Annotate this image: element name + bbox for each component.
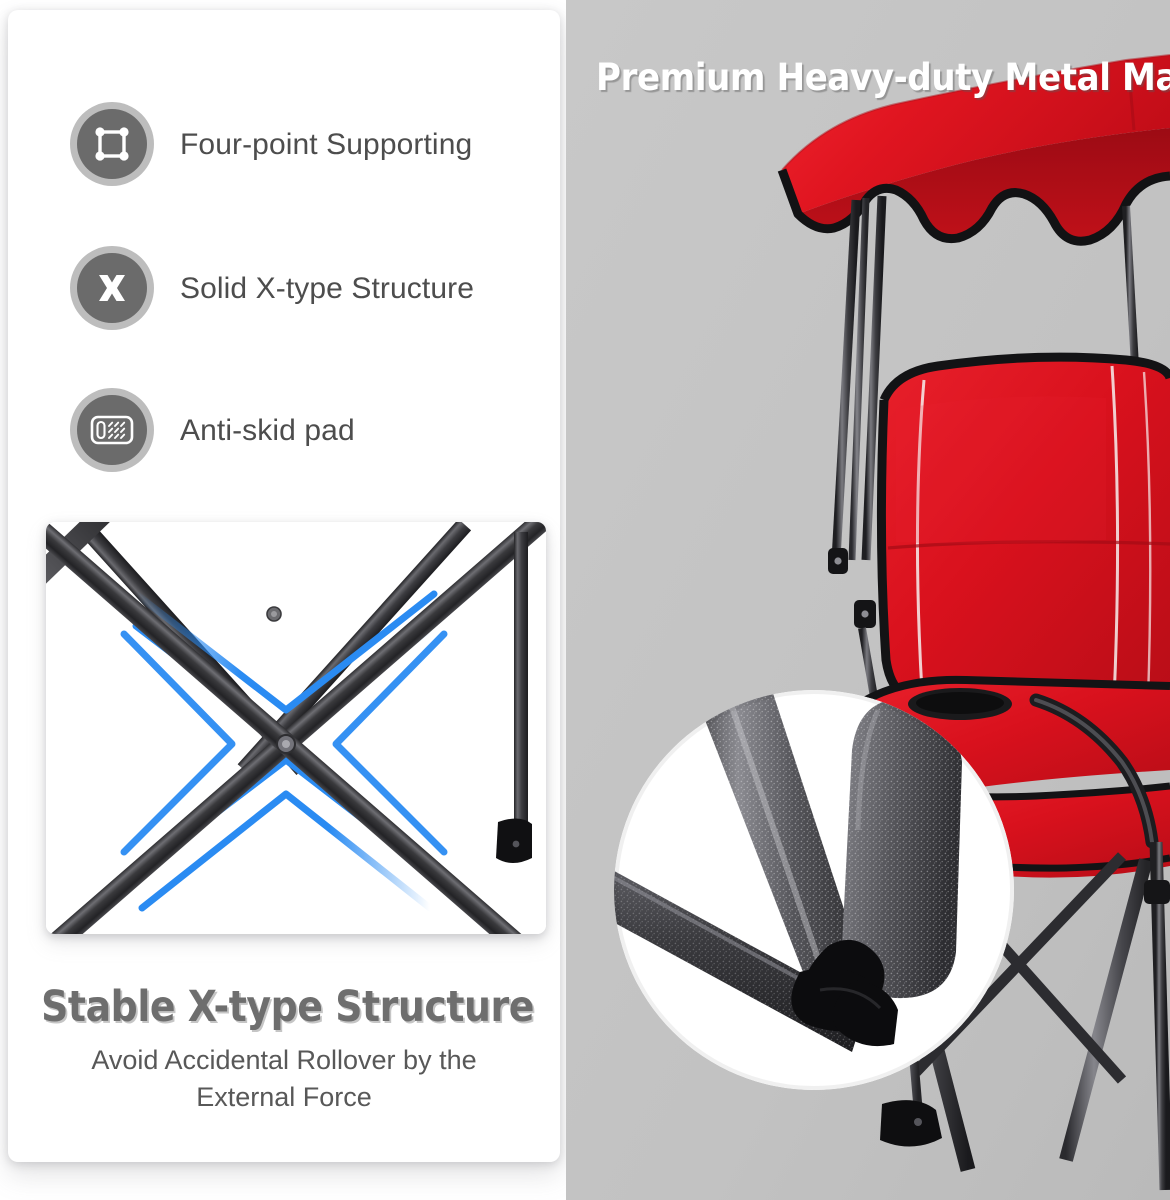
stable-structure-subtitle: Avoid Accidental Rollover by the Externa… <box>54 1042 514 1116</box>
x-structure-illustration <box>46 522 546 934</box>
left-card: Four-point Supporting Solid X-type Struc… <box>8 10 560 1162</box>
metal-joint-illustration <box>614 690 1014 1090</box>
feature-label: Solid X-type Structure <box>180 272 474 305</box>
feature-label: Four-point Supporting <box>180 128 472 161</box>
metal-joint-detail-inset <box>614 690 1014 1090</box>
feature-label: Anti-skid pad <box>180 414 355 447</box>
left-panel: Four-point Supporting Solid X-type Struc… <box>0 0 566 1200</box>
right-panel: Premium Heavy-duty Metal Material <box>566 0 1170 1200</box>
feature-item-anti-skid-pad: Anti-skid pad <box>70 388 355 472</box>
feature-item-x-structure: Solid X-type Structure <box>70 246 474 330</box>
x-structure-icon <box>70 246 154 330</box>
feature-item-four-point: Four-point Supporting <box>70 102 472 186</box>
right-panel-title: Premium Heavy-duty Metal Material <box>596 56 1122 99</box>
product-feature-graphic: Four-point Supporting Solid X-type Struc… <box>0 0 1170 1200</box>
anti-skid-pad-icon <box>70 388 154 472</box>
four-point-frame-icon <box>70 102 154 186</box>
x-structure-photo <box>46 522 546 934</box>
stable-structure-heading: Stable X-type Structure <box>41 982 527 1032</box>
